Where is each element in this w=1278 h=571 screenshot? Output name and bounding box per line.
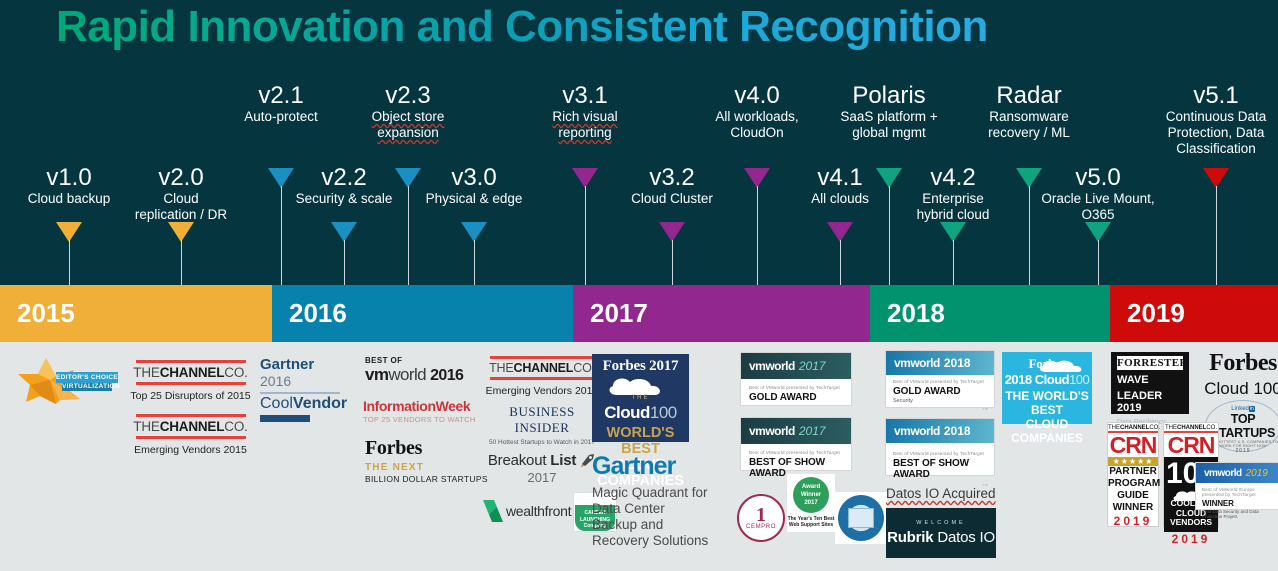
year-segment-2018: 2018 (870, 285, 1110, 342)
vmworld-2017-gold-tiny: Best of VMworld presented by TechTarget (749, 385, 843, 390)
milestone-radar: RadarRansomware recovery / ML (939, 82, 1119, 141)
awards-column-2019: FORRESTER WAVE LEADER 2019 Data Resilien… (1105, 342, 1278, 571)
triangle-marker-icon (331, 222, 357, 242)
vmworld-2017-gold-award-card: vmworld 2017 Best of VMworld presented b… (740, 352, 852, 406)
awards-column-2017a: Forbes 2017 THE Cloud100 WORLD'S BEST CL… (575, 342, 725, 571)
vmworld-2016-bestof-logo: BEST OF vmworld 2016 (365, 356, 480, 385)
page-title: Rapid Innovation and Consistent Recognit… (56, 2, 988, 52)
gartner-vendor-word: Vendor (293, 395, 347, 412)
year-label: 2019 (1127, 298, 1185, 329)
channelco-emerging-2015-sub: Emerging Vendors 2015 (118, 444, 263, 456)
gartner-cool-vendor-logo: Gartner 2016 CoolVendor (260, 356, 340, 422)
milestone-description: Physical & edge (384, 191, 564, 207)
triangle-marker-icon (1203, 168, 1229, 188)
vmworld-2019-year: 2019 (1246, 468, 1268, 479)
forrester-wave-leader-badge: FORRESTER WAVE LEADER 2019 Data Resilien… (1111, 352, 1189, 414)
channelco-top25-sub: Top 25 Disruptors of 2015 (118, 390, 263, 402)
channelco-channel: CHANNEL (160, 365, 225, 380)
forbes-cloud100-2018-cloud: Cloud (1035, 372, 1069, 387)
crn-partner-program-guide-badge: THECHANNELCO. CRN ★★★★★ PARTNER PROGRAM … (1107, 422, 1159, 527)
editors-choice-virtualization-logo: EDITOR'S CHOICE VIRTUALIZATION (16, 356, 116, 406)
awards-column-2017b: vmworld 2017 Best of VMworld presented b… (735, 342, 875, 571)
forbes-cloud100-2018-100: 100 (1069, 372, 1089, 387)
crn-the: THE (1165, 425, 1177, 431)
forbes-billion-dollar-startups: BILLION DOLLAR STARTUPS (365, 474, 495, 484)
milestone-version: v2.3 (318, 82, 498, 109)
forbes-cloud100-plain-logo: Forbes Cloud 100 (1203, 350, 1278, 399)
forbes-cloud100-2017-badge: Forbes 2017 THE Cloud100 WORLD'S BEST CL… (592, 354, 689, 442)
informationweek-sub: TOP 25 VENDORS TO WATCH (363, 415, 493, 424)
rubrik-brand: Rubrik (887, 529, 933, 546)
forbes-cloud100-2017-year: 2017 (649, 358, 678, 374)
crn-partner-year: 2019 (1108, 514, 1158, 528)
awards-column-2016: Gartner 2016 CoolVendor BEST OF vmworld … (255, 342, 575, 571)
forrester-wave: WAVE (1117, 374, 1183, 386)
vmworld-2018-bos-year: 2018 (944, 424, 971, 438)
channelco-the: THE (489, 361, 513, 375)
vmworld-2019-sub: Best Data Security and Data Protection P… (1202, 509, 1272, 519)
gartner-brand: Gartner (260, 356, 314, 373)
vmworld-2018-gold-tiny: Best of VMworld presented by TechTarget (893, 379, 987, 384)
datos-io-name: Datos IO (933, 529, 995, 546)
cloud-icon (605, 375, 677, 395)
milestone-description: Rich visual reporting (495, 109, 675, 141)
informationweek-name: InformationWeek (363, 398, 493, 414)
vmworld-vm: vm (365, 365, 388, 384)
year-label: 2016 (289, 298, 347, 329)
crn-100-year: 2019 (1164, 532, 1218, 546)
vmworld-world: world (910, 424, 940, 438)
channelco-channel: CHANNEL (514, 361, 574, 375)
triangle-marker-icon (56, 222, 82, 242)
award-winner-sub: The Year's Ten Best Web Support Sites (787, 516, 835, 528)
breakout-list-word: List (550, 452, 576, 469)
channelco-emerging-2015-logo: THECHANNELCO. Emerging Vendors 2015 (118, 414, 263, 456)
milestone-v3.0: v3.0Physical & edge (384, 164, 564, 207)
award-winner-l1: Award (802, 483, 820, 491)
forbes-cloud100-2018-badge: Forbes 2018 Cloud100 THE WORLD'S BEST CL… (1002, 352, 1092, 424)
vmworld-2019-tiny: Best of VMworld Europe presented by Tech… (1202, 487, 1272, 497)
crn-co: CO. (1149, 425, 1160, 431)
blue-seal-icon (838, 495, 884, 541)
vmworld-world: world (388, 365, 426, 384)
cempro-name: CEMPRO (746, 524, 776, 530)
milestone-version: v2.0 (91, 164, 271, 191)
channelco-co: CO. (224, 419, 247, 434)
milestone-v2.3: v2.3Object store expansion (318, 82, 498, 141)
gartner-magic-quadrant-logo: Gartner Magic Quadrant for Data Center B… (592, 452, 717, 549)
vmworld-vm: vm (1204, 468, 1217, 479)
forbes-plain-brand: Forbes (1203, 350, 1278, 377)
awards-column-2015: EDITOR'S CHOICE VIRTUALIZATION THECHANNE… (0, 342, 272, 571)
rubrik-welcome-label: WELCOME (916, 520, 965, 526)
vmworld-2018-bos-tiny: Best of VMworld presented by TechTarget (893, 451, 987, 456)
vmworld-vm: vm (749, 424, 765, 438)
vmworld-2017-best-of-show-card: vmworld 2017 Best of VMworld presented b… (740, 417, 852, 471)
awards-strip: EDITOR'S CHOICE VIRTUALIZATION THECHANNE… (0, 342, 1278, 571)
vmworld-2019-winner-card: vmworld 2019 Best of VMworld Europe pres… (1195, 462, 1278, 510)
milestone-description: Oracle Live Mount, O365 (1008, 191, 1188, 223)
crn-partner-lines: PARTNER PROGRAM GUIDE WINNER (1108, 466, 1158, 514)
milestone-v2.0: v2.0Cloud replication / DR (91, 164, 271, 223)
vmworld-vm: vm (749, 359, 765, 373)
milestone-v5.0: v5.0Oracle Live Mount, O365 (1008, 164, 1188, 223)
year-segment-2016: 2016 (272, 285, 573, 342)
award-winner-2017-seal: Award Winner 2017 The Year's Ten Best We… (787, 474, 835, 532)
milestone-description: Ransomware recovery / ML (939, 109, 1119, 141)
milestone-description: Cloud replication / DR (91, 191, 271, 223)
vmworld-bestof-label: BEST OF (365, 356, 480, 365)
forbes-cloud100-2018-l3: THE WORLD'S BEST (1002, 389, 1092, 417)
forbes-the-next: THE NEXT (365, 462, 495, 473)
milestone-v5.1: v5.1Continuous Data Protection, Data Cla… (1126, 82, 1278, 157)
forbes-cloud100-2017-100: 100 (650, 403, 677, 422)
milestone-version: v3.1 (495, 82, 675, 109)
vmworld-2017-bos-year: 2017 (799, 424, 826, 438)
year-label: 2018 (887, 298, 945, 329)
vmworld-2017-gold-year: 2017 (799, 359, 826, 373)
triangle-marker-icon (461, 222, 487, 242)
forbes-cloud100-2017-cloud: Cloud (604, 403, 650, 422)
crn-name: CRN (1108, 433, 1158, 457)
gartner-mq-brand: Gartner (592, 452, 717, 481)
vmworld-world: world (910, 356, 940, 370)
milestone-description: Cloud Cluster (582, 191, 762, 207)
crn-the: THE (1108, 425, 1120, 431)
forbes-brand: Forbes (365, 437, 495, 460)
informationweek-logo: InformationWeek TOP 25 VENDORS TO WATCH (363, 398, 493, 424)
triangle-marker-icon (168, 222, 194, 242)
forbes-cloud100-2018-year: 2018 (1005, 372, 1032, 387)
vmworld-2018-bos-title: BEST OF SHOW AWARD (893, 458, 987, 480)
vmworld-2018-best-of-show-card: vmworld 2018 Best of VMworld presented b… (885, 418, 995, 476)
year-label: 2017 (590, 298, 648, 329)
triangle-marker-icon (940, 222, 966, 242)
editors-choice-ribbon-label: EDITOR'S CHOICE (56, 372, 118, 383)
vmworld-2017-bos-tiny: Best of VMworld presented by TechTarget (749, 450, 843, 455)
breakout-word: Breakout (488, 452, 550, 469)
milestone-v3.2: v3.2Cloud Cluster (582, 164, 762, 207)
forrester-leader-year: LEADER 2019 (1117, 390, 1183, 414)
slide-canvas: Rapid Innovation and Consistent Recognit… (0, 0, 1278, 571)
channelco-the: THE (133, 419, 159, 434)
vmworld-2019-title: WINNER (1202, 499, 1272, 508)
forbes-cloud100-2017-brand: Forbes (603, 358, 646, 374)
cempro-number: 1 (756, 506, 766, 524)
vmworld-2018-gold-award-card: vmworld 2018 Best of VMworld presented b… (885, 350, 995, 408)
milestone-v3.1: v3.1Rich visual reporting (495, 82, 675, 141)
vmworld-world: world (765, 359, 795, 373)
awards-column-2018b: Forbes 2018 Cloud100 THE WORLD'S BEST CL… (1000, 342, 1110, 571)
datos-io-acquired-text: Datos IO Acquired (886, 486, 996, 501)
editors-choice-ribbon-sub: VIRTUALIZATION (62, 383, 112, 391)
milestone-version: v3.0 (384, 164, 564, 191)
vmworld-2016-year: 2016 (430, 367, 463, 384)
forbes-cloud100-2018-l4: CLOUD COMPANIES (1002, 417, 1092, 445)
vmworld-world: world (765, 424, 795, 438)
milestone-version: v3.2 (582, 164, 762, 191)
wealthfront-name: wealthfront (506, 503, 571, 519)
milestone-version: v5.1 (1126, 82, 1278, 109)
year-segment-2019: 2019 (1110, 285, 1278, 342)
channelco-channel: CHANNEL (160, 419, 225, 434)
award-winner-l3: 2017 (804, 499, 817, 507)
rubrik-datos-io-banner: WELCOME Rubrik Datos IO (886, 508, 996, 558)
triangle-marker-icon (659, 222, 685, 242)
wealthfront-logo: wealthfront (483, 500, 571, 522)
triangle-marker-icon (1085, 222, 1111, 242)
cempro-number-one-seal: 1 CEMPRO (737, 494, 785, 542)
milestone-version: v5.0 (1008, 164, 1188, 191)
channelco-co: CO. (224, 365, 247, 380)
forbes-next-billion-logo: Forbes THE NEXT BILLION DOLLAR STARTUPS (365, 437, 495, 484)
vmworld-vm: vm (894, 356, 910, 370)
vmworld-2018-gold-title: GOLD AWARD (893, 386, 987, 397)
awards-column-2018a: vmworld 2018 Best of VMworld presented b… (880, 342, 1010, 571)
vmworld-world: world (1217, 468, 1241, 479)
forrester-brand: FORRESTER (1117, 356, 1183, 370)
milestone-version: Radar (939, 82, 1119, 109)
timeline-panel: Rapid Innovation and Consistent Recognit… (0, 0, 1278, 285)
wealthfront-mark-icon (483, 500, 503, 522)
crn-name: CRN (1164, 433, 1218, 457)
forbes-plain-sub: Cloud 100 (1203, 379, 1278, 399)
gartner-cool-word: Cool (260, 395, 293, 412)
crn-stars-icon: ★★★★★ (1108, 457, 1158, 466)
year-segment-2015: 2015 (0, 285, 272, 342)
channelco-the: THE (133, 365, 159, 380)
channelco-top25-logo: THECHANNELCO. Top 25 Disruptors of 2015 (118, 360, 263, 402)
award-winner-l2: Winner (801, 491, 821, 499)
crn-co: CO. (1206, 425, 1217, 431)
year-segment-2017: 2017 (573, 285, 870, 342)
forbes-cloud100-2017-the: THE (592, 395, 689, 401)
vmworld-2018-gold-year: 2018 (944, 356, 971, 370)
milestone-description: Continuous Data Protection, Data Classif… (1126, 109, 1278, 157)
crn-channel: CHANNEL (1177, 425, 1206, 431)
triangle-marker-icon (827, 222, 853, 242)
vmworld-vm: vm (894, 424, 910, 438)
crn-channel: CHANNEL (1120, 425, 1149, 431)
milestone-description: Object store expansion (318, 109, 498, 141)
gartner-cool-year: 2016 (260, 373, 291, 389)
award-winner-circle-icon: Award Winner 2017 (793, 477, 829, 513)
gartner-mq-text: Magic Quadrant for Data Center Backup an… (592, 485, 717, 549)
vmworld-2017-gold-title: GOLD AWARD (749, 392, 843, 403)
year-bar: 20152016201720182019 (0, 285, 1278, 342)
vmworld-2018-gold-sub: Security (893, 398, 987, 404)
year-label: 2015 (17, 298, 75, 329)
